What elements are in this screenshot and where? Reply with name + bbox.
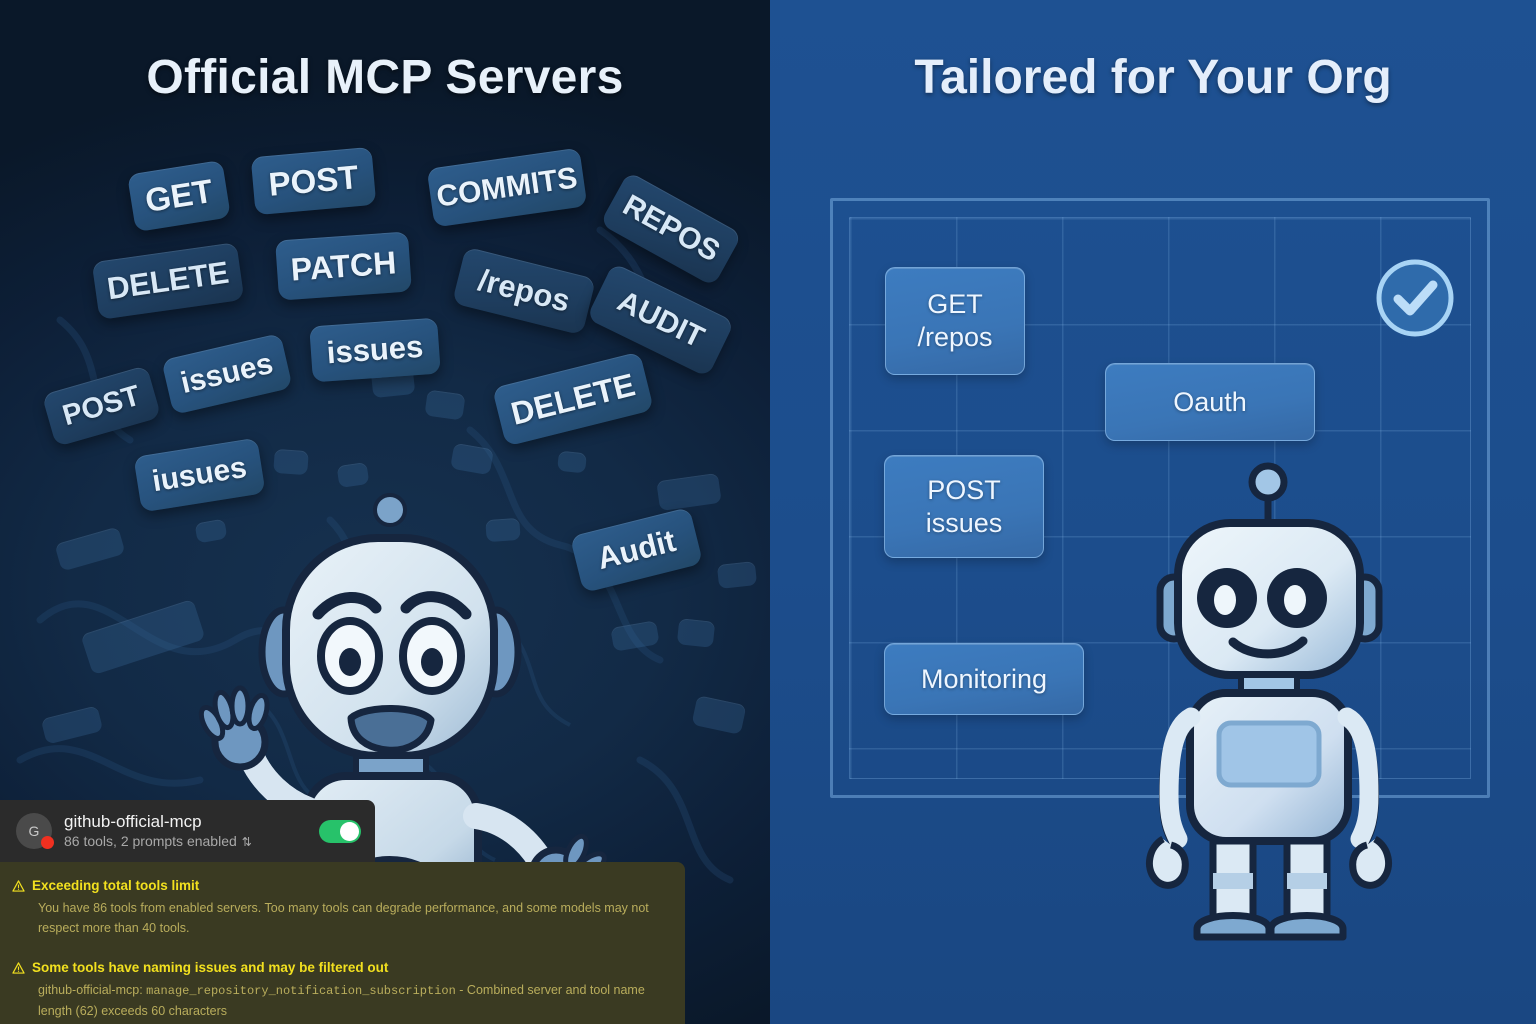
warnings-panel: Exceeding total tools limit You have 86 … [0, 862, 685, 1024]
chevron-updown-icon[interactable]: ⇅ [242, 835, 252, 849]
blank-chip [717, 561, 757, 589]
warning-title: Exceeding total tools limit [32, 876, 199, 895]
flow-box-line: Monitoring [921, 663, 1047, 696]
blank-chip [424, 389, 465, 420]
server-status-row[interactable]: 86 tools, 2 prompts enabled⇅ [64, 832, 319, 852]
blank-chip [557, 451, 587, 474]
flow-box-line: /repos [917, 321, 992, 354]
warning-triangle-icon [12, 962, 25, 974]
warning-title-row: Exceeding total tools limit [12, 876, 655, 895]
mcp-server-settings-overlay: G github-official-mcp 86 tools, 2 prompt… [0, 800, 685, 1024]
tool-label-chip: POST [251, 147, 377, 215]
server-status-text: 86 tools, 2 prompts enabled [64, 833, 237, 849]
success-check-icon [1372, 255, 1458, 341]
avatar-initial: G [29, 823, 40, 839]
toggle-knob [340, 822, 359, 841]
server-text-block: github-official-mcp 86 tools, 2 prompts … [64, 811, 319, 852]
blank-chip [273, 449, 309, 475]
flow-box-oauth: Oauth [1105, 363, 1315, 441]
tool-label-chip: issues [309, 318, 441, 383]
flow-box-line: Oauth [1173, 386, 1247, 419]
status-red-dot [41, 836, 54, 849]
warning-item: Some tools have naming issues and may be… [12, 958, 655, 1021]
flow-box-line: POST [927, 474, 1001, 507]
tool-label-chip: PATCH [275, 231, 412, 300]
server-name: github-official-mcp [64, 811, 319, 832]
flow-box-monitoring: Monitoring [884, 643, 1084, 715]
right-panel-title: Tailored for Your Org [770, 50, 1536, 105]
flow-box-line: issues [926, 507, 1003, 540]
left-panel-title: Official MCP Servers [0, 50, 770, 105]
tool-name-mono: manage_repository_notification_subscript… [146, 984, 456, 998]
server-row-header[interactable]: G github-official-mcp 86 tools, 2 prompt… [0, 800, 375, 862]
warning-title-row: Some tools have naming issues and may be… [12, 958, 655, 977]
warning-triangle-icon [12, 880, 25, 892]
flow-box-line: GET [927, 288, 983, 321]
warning-body-prefix: github-official-mcp: [38, 983, 146, 997]
warning-item: Exceeding total tools limit You have 86 … [12, 876, 655, 938]
warning-spacer [12, 942, 655, 958]
server-enable-toggle[interactable] [319, 820, 361, 843]
comparison-infographic: Official MCP Servers GETPOSTCOMMITSREPOS… [0, 0, 1536, 1024]
warning-title: Some tools have naming issues and may be… [32, 958, 388, 977]
warning-body: github-official-mcp: manage_repository_n… [12, 980, 655, 1021]
warning-body: You have 86 tools from enabled servers. … [12, 898, 655, 938]
blank-chip [677, 618, 716, 648]
happy-robot-illustration [1105, 455, 1455, 985]
flow-box-get-repos: GET/repos [885, 267, 1025, 375]
server-avatar: G [16, 813, 52, 849]
flow-box-post-issues: POSTissues [884, 455, 1044, 558]
